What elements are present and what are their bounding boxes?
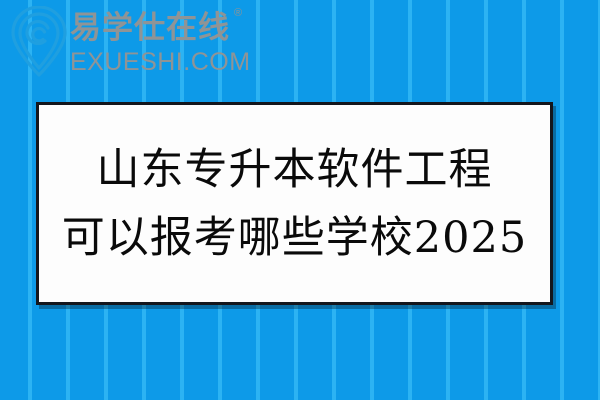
title-card: 山东专升本软件工程 可以报考哪些学校2025 <box>36 102 553 305</box>
title-line-1: 山东专升本软件工程 <box>97 136 493 204</box>
poster-canvas: 易学仕在线 ® EXUESHI.COM 山东专升本软件工程 可以报考哪些学校20… <box>0 0 600 400</box>
title-line-2: 可以报考哪些学校2025 <box>62 204 527 272</box>
